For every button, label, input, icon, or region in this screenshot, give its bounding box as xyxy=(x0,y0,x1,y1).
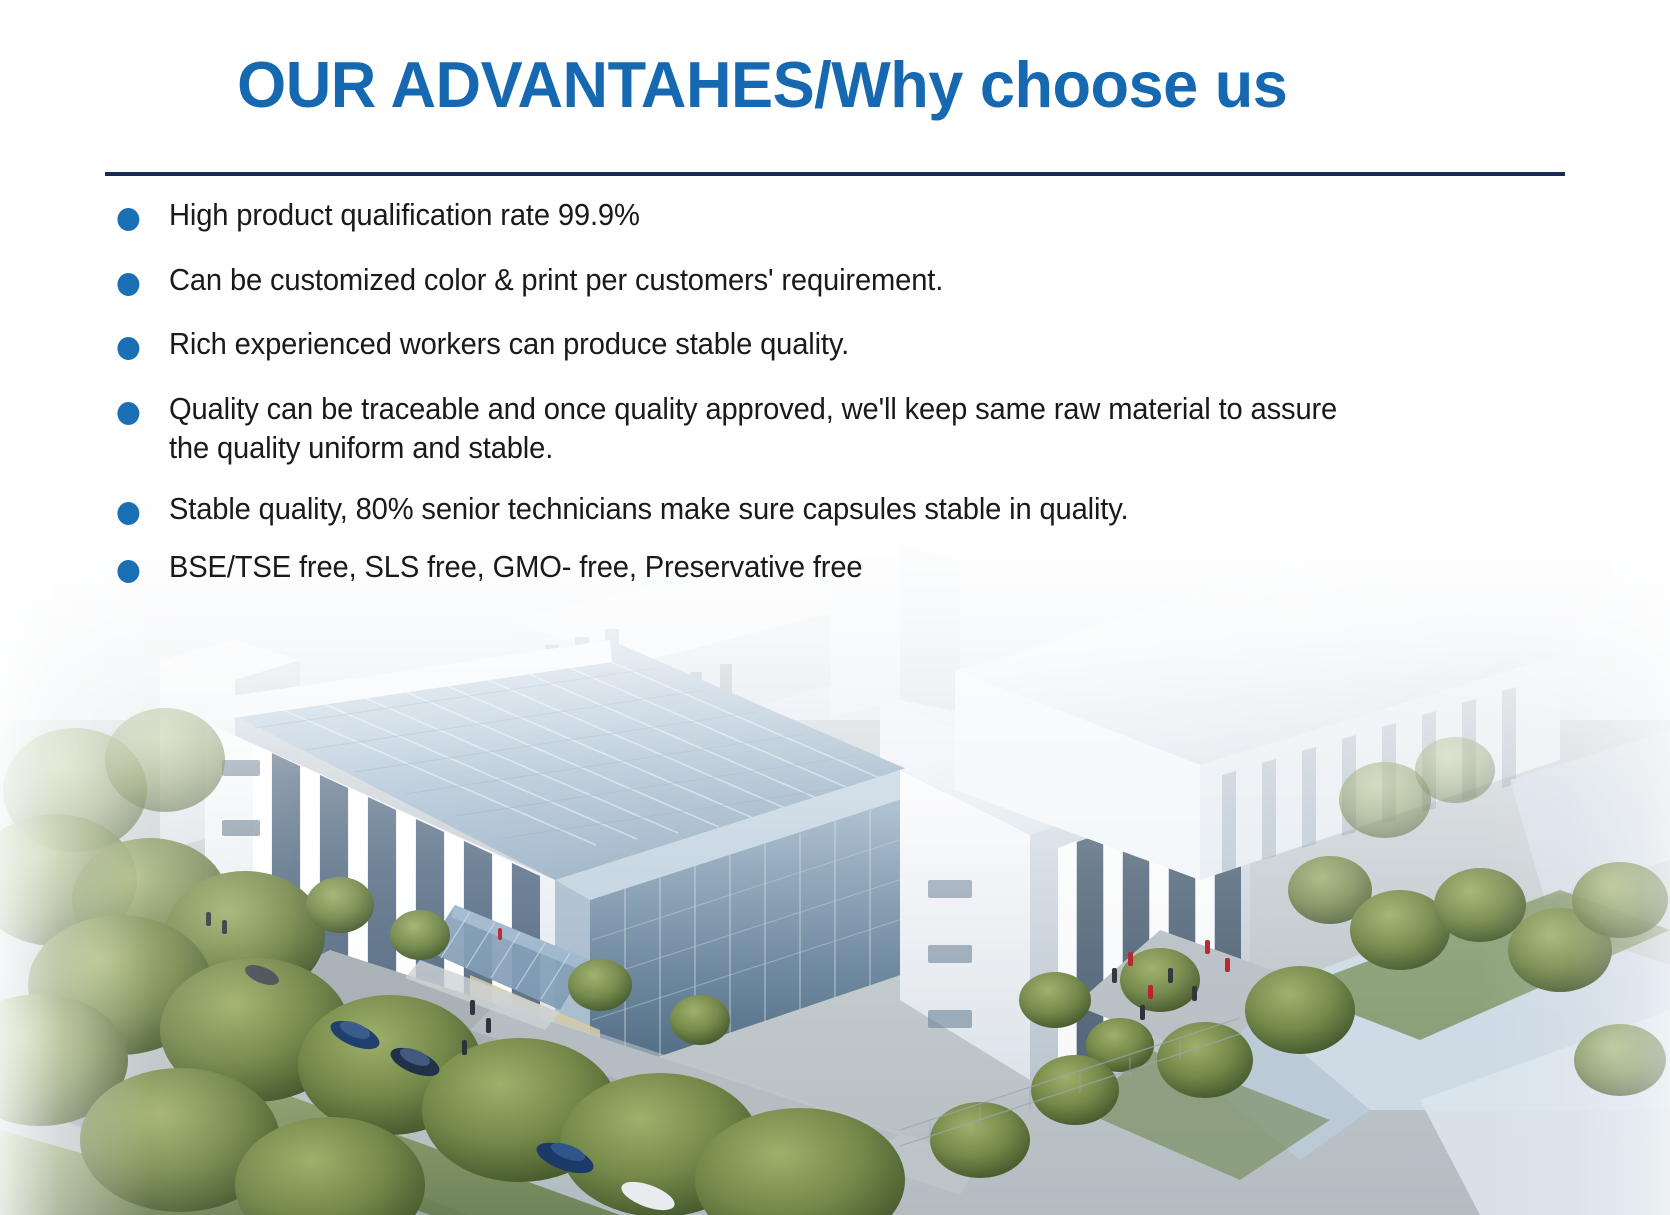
page-title: OUR ADVANTAHES/Why choose us xyxy=(25,52,1645,117)
bullet-dot-icon xyxy=(117,560,139,583)
bullet-dot-icon xyxy=(117,273,139,296)
advantages-list: High product qualification rate 99.9% Ca… xyxy=(105,196,1445,607)
list-item-label: Rich experienced workers can produce sta… xyxy=(169,327,849,361)
list-item-label: Quality can be traceable and once qualit… xyxy=(169,392,1337,465)
list-item-label: BSE/TSE free, SLS free, GMO- free, Prese… xyxy=(169,550,862,584)
list-item: BSE/TSE free, SLS free, GMO- free, Prese… xyxy=(105,548,1385,587)
list-item: Can be customized color & print per cust… xyxy=(105,261,1385,300)
title-divider xyxy=(105,172,1565,176)
list-item: High product qualification rate 99.9% xyxy=(105,196,1385,235)
list-item: Quality can be traceable and once qualit… xyxy=(105,390,1385,467)
list-item-label: Stable quality, 80% senior technicians m… xyxy=(169,492,1128,526)
list-item-label: Can be customized color & print per cust… xyxy=(169,263,943,297)
list-item: Rich experienced workers can produce sta… xyxy=(105,325,1385,364)
factory-campus-rendering xyxy=(0,0,1670,1215)
list-item: Stable quality, 80% senior technicians m… xyxy=(105,490,1385,529)
factory-campus-illustration xyxy=(0,0,1670,1215)
advantages-slide: OUR ADVANTAHES/Why choose us High produc… xyxy=(0,0,1670,1215)
bullet-dot-icon xyxy=(117,208,139,231)
bullet-dot-icon xyxy=(117,402,139,425)
bullet-dot-icon xyxy=(117,337,139,360)
bullet-dot-icon xyxy=(117,502,139,525)
list-item-label: High product qualification rate 99.9% xyxy=(169,198,640,232)
